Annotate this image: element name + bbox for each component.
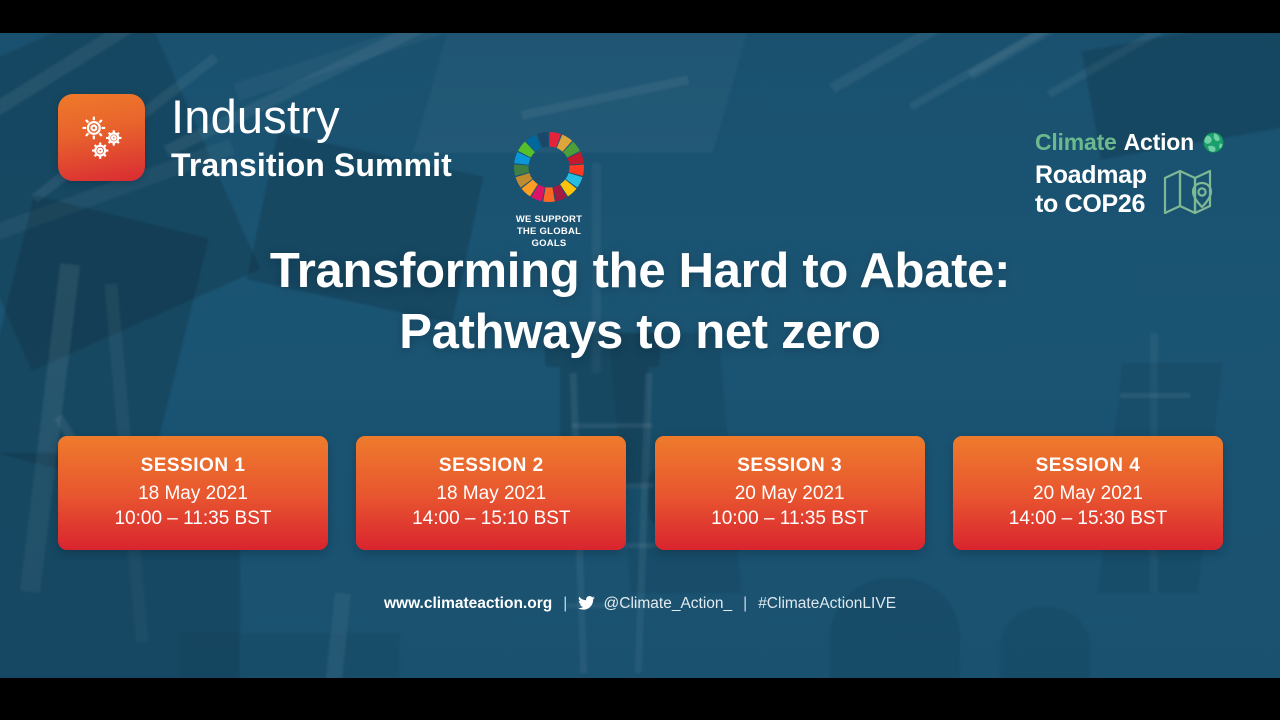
session-name: SESSION 1: [58, 455, 328, 477]
letterbox-bar-bottom: [0, 678, 1280, 720]
session-name: SESSION 2: [356, 455, 626, 477]
brand-line-transition-summit: Transition Summit: [171, 149, 452, 181]
twitter-handle-group[interactable]: @Climate_Action_: [578, 595, 732, 613]
session-card[interactable]: SESSION 2 18 May 2021 14:00 – 15:10 BST: [356, 436, 626, 550]
title-line-1: Transforming the Hard to Abate:: [0, 241, 1280, 302]
session-card[interactable]: SESSION 3 20 May 2021 10:00 – 11:35 BST: [655, 436, 925, 550]
session-date: 18 May 2021: [58, 483, 328, 505]
session-time: 14:00 – 15:10 BST: [356, 508, 626, 530]
brand-line-industry: Industry: [171, 93, 452, 140]
footer-separator: |: [563, 595, 567, 613]
session-time: 10:00 – 11:35 BST: [655, 508, 925, 530]
slide-footer: www.climateaction.org | @Climate_Action_…: [0, 595, 1280, 613]
session-card[interactable]: SESSION 1 18 May 2021 10:00 – 11:35 BST: [58, 436, 328, 550]
session-card[interactable]: SESSION 4 20 May 2021 14:00 – 15:30 BST: [953, 436, 1223, 550]
sdg-support-lockup: WE SUPPORT THE GLOBAL GOALS: [503, 129, 595, 250]
website-link[interactable]: www.climateaction.org: [384, 595, 552, 613]
slide-header: Industry Transition Summit WE SUPPORT TH…: [0, 33, 1280, 203]
session-name: SESSION 4: [953, 455, 1223, 477]
roadmap-line1: Roadmap: [1035, 161, 1147, 189]
session-date: 20 May 2021: [655, 483, 925, 505]
action-word: Action: [1124, 129, 1194, 156]
session-time: 14:00 – 15:30 BST: [953, 508, 1223, 530]
twitter-handle: @Climate_Action_: [604, 595, 733, 612]
title-line-2: Pathways to net zero: [0, 302, 1280, 363]
folded-map-pin-icon: [1161, 166, 1223, 214]
sdg-colour-wheel-icon: [511, 129, 587, 205]
sdg-caption-line1: WE SUPPORT: [516, 214, 582, 225]
slide-title: Transforming the Hard to Abate: Pathways…: [0, 241, 1280, 364]
slide-body: Industry Transition Summit WE SUPPORT TH…: [0, 33, 1280, 678]
event-brand-lockup: Industry Transition Summit: [58, 93, 452, 181]
roadmap-line2: to COP26: [1035, 190, 1145, 218]
globe-icon: [1201, 130, 1226, 155]
slide-canvas: Industry Transition Summit WE SUPPORT TH…: [0, 0, 1280, 720]
session-date: 20 May 2021: [953, 483, 1223, 505]
footer-separator: |: [743, 595, 747, 613]
climate-action-roadmap-logo: Climate Action: [1035, 129, 1226, 218]
letterbox-bar-top: [0, 0, 1280, 33]
session-date: 18 May 2021: [356, 483, 626, 505]
twitter-bird-icon: [578, 596, 595, 610]
event-hashtag: #ClimateActionLIVE: [758, 595, 896, 613]
climate-word: Climate: [1035, 129, 1117, 156]
session-name: SESSION 3: [655, 455, 925, 477]
gears-icon: [58, 94, 145, 181]
session-card-list: SESSION 1 18 May 2021 10:00 – 11:35 BST …: [58, 436, 1223, 550]
session-time: 10:00 – 11:35 BST: [58, 508, 328, 530]
